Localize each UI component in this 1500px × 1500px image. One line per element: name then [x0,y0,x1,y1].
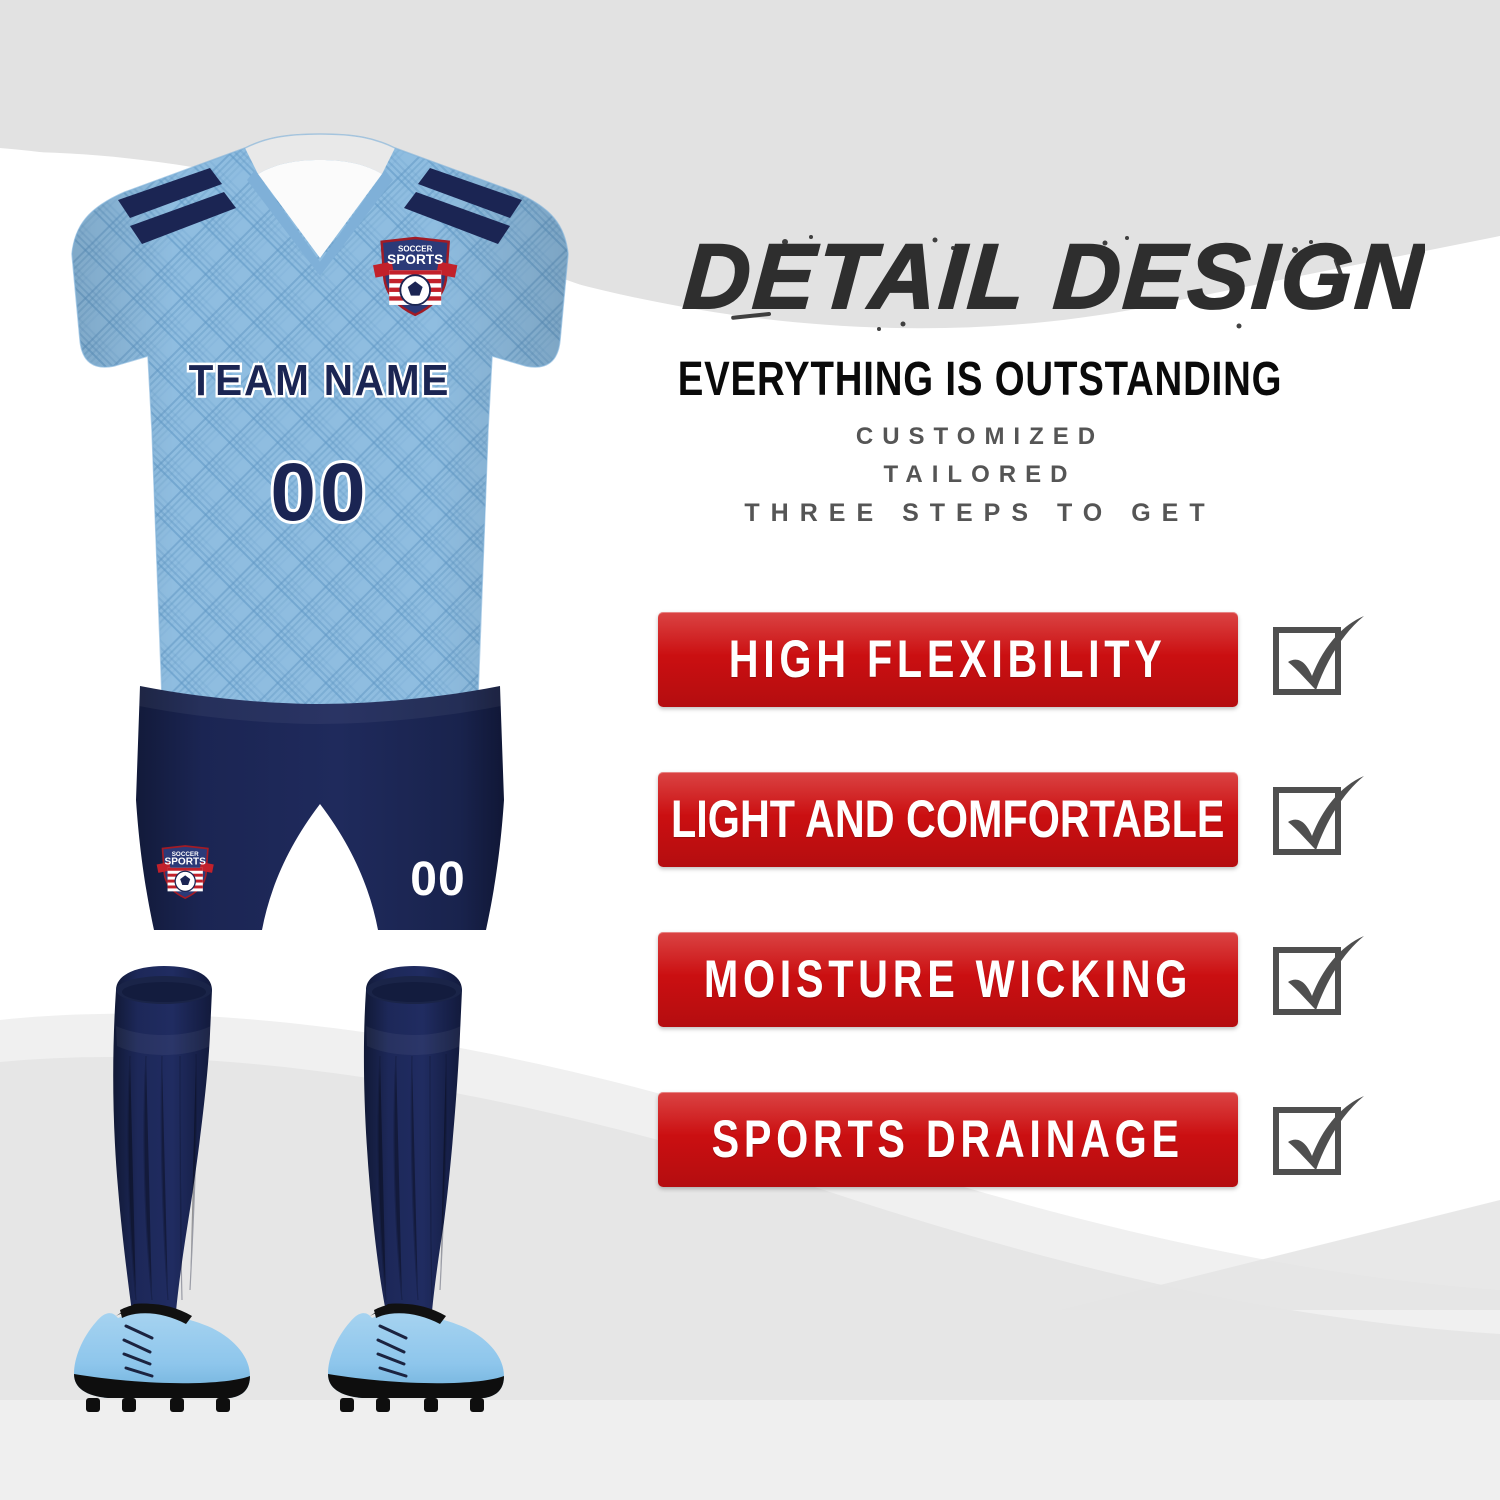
checkbox-checked-icon [1268,610,1368,710]
feature-row: LIGHT AND COMFORTABLE [658,772,1418,882]
feature-row: MOISTURE WICKING [658,932,1418,1042]
tagline-3: THREE STEPS TO GET [540,501,1420,526]
feature-label: SPORTS DRAINAGE [712,1113,1184,1166]
tagline-1: CUSTOMIZED [540,425,1420,449]
svg-text:SPORTS: SPORTS [387,252,443,267]
feature-label: LIGHT AND COMFORTABLE [671,793,1224,846]
tagline-2: TAILORED [540,463,1420,487]
feature-bar-light-and-comfortable[interactable]: LIGHT AND COMFORTABLE [658,772,1238,867]
jersey-number: 00 [270,447,369,538]
svg-text:SPORTS: SPORTS [164,856,206,867]
tagline-group: CUSTOMIZED TAILORED THREE STEPS TO GET [540,425,1420,526]
shorts-number: 00 [410,853,465,906]
checkbox-checked-icon [1268,770,1368,870]
feature-bar-moisture-wicking[interactable]: MOISTURE WICKING [658,932,1238,1027]
feature-list: HIGH FLEXIBILITY LIGHT AND COMFORTABLE [658,612,1418,1252]
jersey-team-name: TEAM NAME [189,355,451,404]
marketing-copy: DETAIL DESIGN EVERYTHING IS OUTSTANDING … [540,0,1500,1500]
page-title-text: DETAIL DESIGN [681,228,1425,328]
jersey-image: TEAM NAME 00 [60,130,580,750]
feature-bar-sports-drainage[interactable]: SPORTS DRAINAGE [658,1092,1238,1187]
shorts-image: SOCCER SPORTS 00 [120,680,520,950]
feature-row: HIGH FLEXIBILITY [658,612,1418,722]
cleat-left [74,1303,250,1412]
checkbox-checked-icon [1268,930,1368,1030]
feature-row: SPORTS DRAINAGE [658,1092,1418,1202]
socks-and-cleats-image [60,960,580,1440]
feature-bar-high-flexibility[interactable]: HIGH FLEXIBILITY [658,612,1238,707]
page-title: DETAIL DESIGN [635,228,1425,333]
sock-left [113,966,212,1312]
promo-graphic: TEAM NAME 00 [0,0,1500,1500]
cleat-right [328,1303,504,1412]
checkbox-checked-icon [1268,1090,1368,1190]
feature-label: MOISTURE WICKING [704,953,1192,1006]
page-subtitle: EVERYTHING IS OUTSTANDING [636,352,1324,407]
sock-right [364,966,462,1312]
feature-label: HIGH FLEXIBILITY [729,633,1167,686]
